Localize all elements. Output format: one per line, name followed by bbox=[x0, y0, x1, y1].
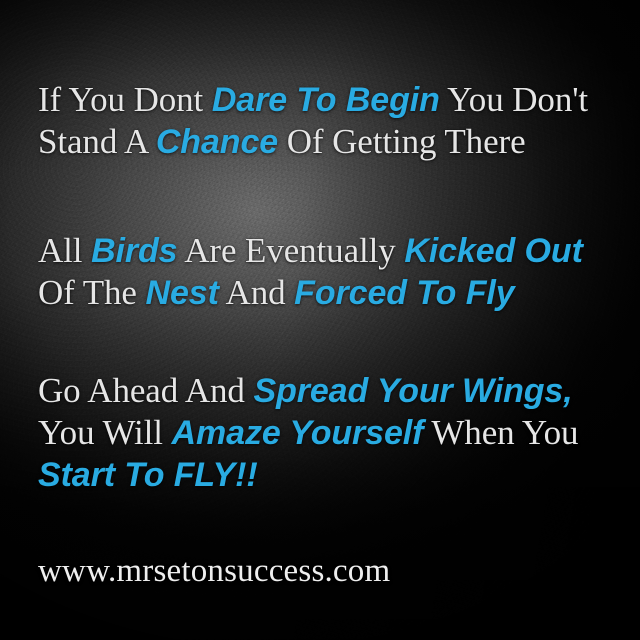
quote-text-plain: Of Getting There bbox=[278, 122, 525, 161]
quote-text-plain: Go Ahead And bbox=[38, 371, 254, 410]
quote-text-accent: Birds bbox=[91, 232, 177, 270]
quote-text-accent: Amaze Yourself bbox=[172, 414, 424, 452]
quote-text-accent: Kicked Out bbox=[404, 232, 582, 270]
quote-text-accent: Spread Your Wings, bbox=[254, 372, 573, 410]
website-url: www.mrsetonsuccess.com bbox=[38, 552, 390, 590]
quote-text-plain: All bbox=[38, 231, 91, 270]
quote-text-accent: Dare To Begin bbox=[212, 81, 440, 119]
quote-paragraph-1: If You Dont Dare To Begin You Don't Stan… bbox=[38, 79, 614, 163]
quote-text-plain: Are Eventually bbox=[178, 231, 405, 270]
quote-text-plain: If You Dont bbox=[38, 80, 212, 119]
quote-text-plain: You Will bbox=[38, 413, 172, 452]
quote-text-accent: Start To FLY!! bbox=[38, 456, 258, 494]
quote-text-plain: Of The bbox=[38, 273, 146, 312]
motivational-quote-poster: If You Dont Dare To Begin You Don't Stan… bbox=[0, 0, 640, 640]
quote-text-accent: Chance bbox=[156, 123, 278, 161]
quote-text-plain: And bbox=[219, 273, 294, 312]
quote-text-plain: When You bbox=[423, 413, 578, 452]
quote-paragraph-2: All Birds Are Eventually Kicked Out Of T… bbox=[38, 230, 622, 314]
quote-text-accent: Nest bbox=[146, 274, 219, 312]
quote-text-accent: Forced To Fly bbox=[294, 274, 514, 312]
quote-paragraph-3: Go Ahead And Spread Your Wings, You Will… bbox=[38, 370, 622, 496]
poster-content: If You Dont Dare To Begin You Don't Stan… bbox=[0, 0, 640, 640]
